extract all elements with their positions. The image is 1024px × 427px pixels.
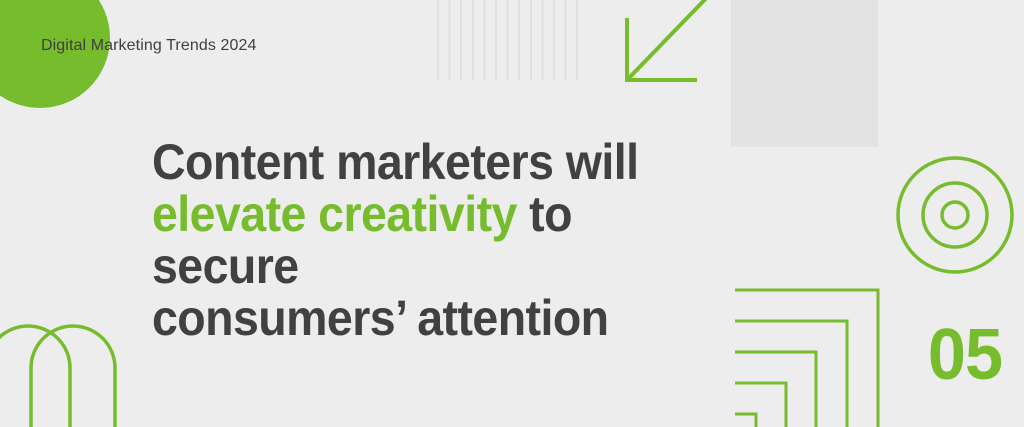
slide-number: 05: [928, 318, 1002, 392]
gray-square-panel: [731, 0, 878, 147]
headline-accent-phrase: elevate creativity: [152, 186, 517, 242]
vertical-stripes-pattern: [437, 0, 587, 80]
bullseye-target-icon: [890, 152, 1020, 282]
headline-line-3: consumers’ attention: [152, 290, 609, 346]
presentation-slide: Digital Marketing Trends 2024 Content ma…: [0, 0, 1024, 427]
nested-corner-brackets: [720, 280, 895, 427]
arches-outline: [0, 318, 154, 427]
arrow-down-left-icon: [600, 0, 730, 94]
slide-eyebrow-label: Digital Marketing Trends 2024: [41, 37, 256, 55]
headline-line-1: Content marketers will: [152, 134, 638, 190]
page-title: Content marketers willelevate creativity…: [152, 136, 729, 344]
